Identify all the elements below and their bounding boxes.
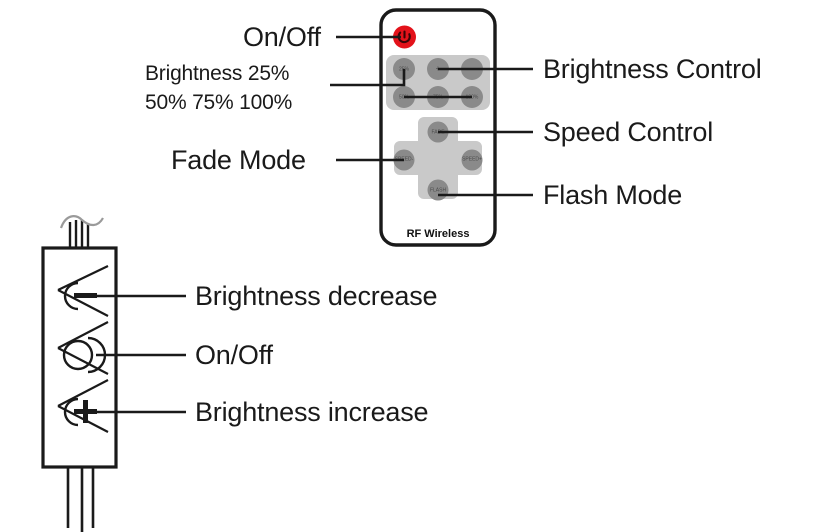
callout-speed-control: Speed Control bbox=[543, 117, 713, 149]
diagram-canvas: 25% + - 50% 75% 100% FADE SPEED- SPEED+ … bbox=[0, 0, 815, 532]
callout-on-off-inline: On/Off bbox=[195, 340, 273, 372]
flash-mode-button-label: FLASH bbox=[430, 187, 447, 193]
plus-icon-vertical bbox=[83, 400, 88, 423]
callout-brightness-increase: Brightness increase bbox=[195, 397, 428, 429]
rf-remote[interactable]: 25% + - 50% 75% 100% FADE SPEED- SPEED+ … bbox=[381, 10, 495, 245]
minus-icon bbox=[74, 293, 97, 298]
speed-up-button-label: SPEED+ bbox=[462, 156, 482, 162]
inline-led-controller[interactable] bbox=[43, 216, 116, 532]
callout-fade-mode: Fade Mode bbox=[171, 145, 306, 177]
callout-flash-mode: Flash Mode bbox=[543, 180, 682, 212]
brightness-control-panel[interactable]: 25% + - 50% 75% 100% bbox=[386, 55, 490, 110]
callout-brightness-levels-line2: 50% 75% 100% bbox=[145, 91, 292, 116]
callout-brightness-levels-line1: Brightness 25% bbox=[145, 62, 289, 87]
inline-controller-top-wires bbox=[61, 216, 103, 248]
callout-brightness-control: Brightness Control bbox=[543, 54, 762, 86]
callout-brightness-decrease: Brightness decrease bbox=[195, 281, 437, 313]
callout-on-off-remote: On/Off bbox=[243, 22, 321, 54]
remote-brand-label: RF Wireless bbox=[407, 228, 470, 240]
inline-controller-bottom-wires bbox=[68, 467, 93, 532]
